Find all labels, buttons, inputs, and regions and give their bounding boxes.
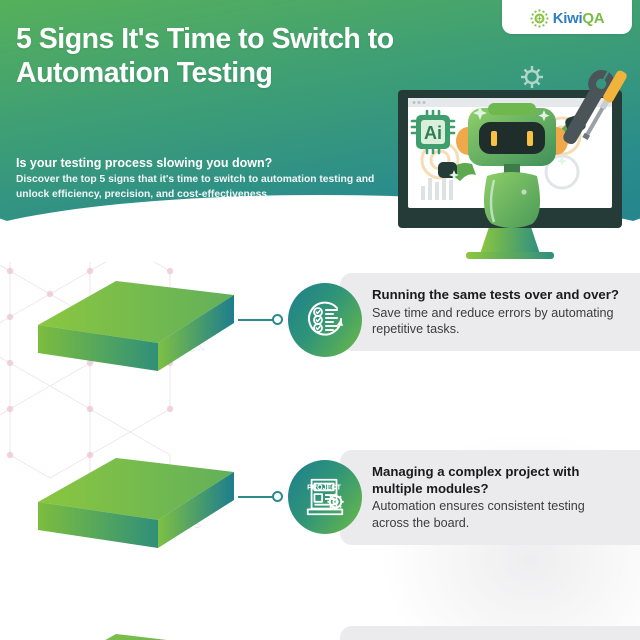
step-cube-03: [28, 626, 244, 640]
step-connector-dot-01: [272, 314, 283, 325]
robot-on-monitor-illustration: Ai: [384, 60, 636, 265]
logo-text-kiwi: Kiwi: [553, 10, 583, 27]
header-subtitle-body: Discover the top 5 signs that it's time …: [16, 173, 388, 202]
page-title: 5 Signs It's Time to Switch to Automatio…: [16, 22, 416, 90]
step-card-01: Running the same tests over and over? Sa…: [340, 273, 640, 351]
step-card-03: [340, 626, 640, 640]
brand-logo[interactable]: KiwiQA: [502, 0, 632, 34]
step-card-title: Running the same tests over and over?: [372, 287, 622, 304]
step-card-body: Automation ensures consistent testing ac…: [372, 498, 622, 531]
step-item-02: Managing a complex project with multiple…: [0, 450, 640, 575]
step-badge-02[interactable]: PROJECT: [288, 460, 362, 534]
checklist-refresh-icon: [301, 296, 349, 344]
step-item-03: [0, 626, 640, 640]
project-icon-text: PROJECT: [307, 483, 341, 491]
step-cube-02: [28, 450, 244, 558]
step-card-02: Managing a complex project with multiple…: [340, 450, 640, 545]
logo-text-qa: QA: [582, 10, 604, 27]
step-card-body: Save time and reduce errors by automatin…: [372, 305, 622, 338]
kiwi-circle-icon: [530, 9, 549, 28]
step-badge-01[interactable]: [288, 283, 362, 357]
project-document-gear-icon: PROJECT: [302, 474, 348, 520]
step-item-01: Running the same tests over and over? Sa…: [0, 273, 640, 393]
step-connector-dot-02: [272, 491, 283, 502]
step-card-title: Managing a complex project with multiple…: [372, 464, 622, 497]
svg-text:Ai: Ai: [424, 123, 442, 143]
step-cube-01: [28, 273, 244, 381]
header-subtitle-question: Is your testing process slowing you down…: [16, 156, 396, 172]
